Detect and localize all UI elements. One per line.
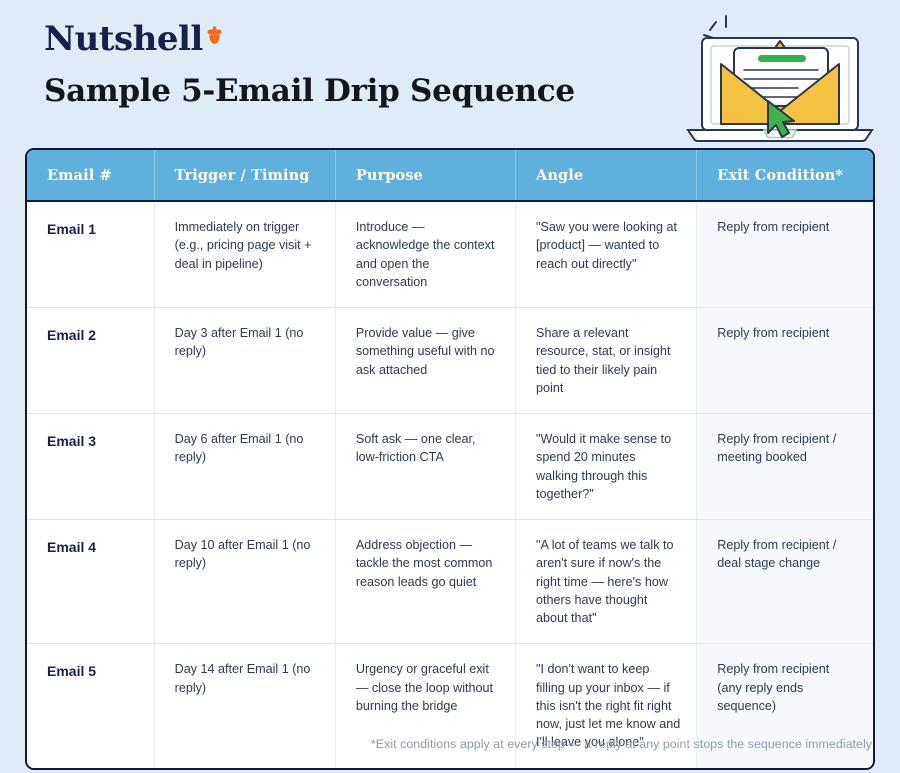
cell-trigger: Day 14 after Email 1 (no reply) <box>154 644 335 768</box>
acorn-icon <box>206 25 223 52</box>
cell-purpose: Soft ask — one clear, low-friction CTA <box>335 414 515 520</box>
table-row: Email 2 Day 3 after Email 1 (no reply) P… <box>27 308 873 414</box>
cell-purpose: Introduce — acknowledge the context and … <box>335 201 515 308</box>
column-header-exit: Exit Condition* <box>697 150 873 201</box>
cell-trigger: Immediately on trigger (e.g., pricing pa… <box>154 201 335 308</box>
sparkle-icon <box>704 16 726 38</box>
brand-logo: Nutshell <box>44 22 223 56</box>
brand-wordmark: Nutshell <box>44 22 203 56</box>
cell-exit: Reply from recipient / deal stage change <box>697 520 873 644</box>
footnote: *Exit conditions apply at every step — a… <box>371 737 872 751</box>
cell-email-id: Email 1 <box>27 201 154 308</box>
column-header-angle: Angle <box>516 150 697 201</box>
table-header-row: Email # Trigger / Timing Purpose Angle E… <box>27 150 873 201</box>
drip-sequence-table: Email # Trigger / Timing Purpose Angle E… <box>25 148 875 770</box>
cell-angle: "A lot of teams we talk to aren't sure i… <box>516 520 697 644</box>
cell-email-id: Email 3 <box>27 414 154 520</box>
cell-email-id: Email 5 <box>27 644 154 768</box>
column-header-purpose: Purpose <box>335 150 515 201</box>
cell-trigger: Day 3 after Email 1 (no reply) <box>154 308 335 414</box>
table-row: Email 3 Day 6 after Email 1 (no reply) S… <box>27 414 873 520</box>
cell-exit: Reply from recipient <box>697 201 873 308</box>
column-header-trigger: Trigger / Timing <box>154 150 335 201</box>
cell-angle: Share a relevant resource, stat, or insi… <box>516 308 697 414</box>
cell-angle: "Saw you were looking at [product] — wan… <box>516 201 697 308</box>
table-row: Email 1 Immediately on trigger (e.g., pr… <box>27 201 873 308</box>
page-header: Nutshell Sample 5-Email Drip Sequence <box>0 0 900 146</box>
page-title: Sample 5-Email Drip Sequence <box>44 74 575 108</box>
column-header-email: Email # <box>27 150 154 201</box>
cell-purpose: Provide value — give something useful wi… <box>335 308 515 414</box>
laptop-open-envelope-illustration <box>680 8 880 142</box>
cell-exit: Reply from recipient / meeting booked <box>697 414 873 520</box>
cell-purpose: Address objection — tackle the most comm… <box>335 520 515 644</box>
cell-email-id: Email 2 <box>27 308 154 414</box>
cell-exit: Reply from recipient <box>697 308 873 414</box>
cell-angle: "Would it make sense to spend 20 minutes… <box>516 414 697 520</box>
cell-trigger: Day 10 after Email 1 (no reply) <box>154 520 335 644</box>
cell-email-id: Email 4 <box>27 520 154 644</box>
table-row: Email 4 Day 10 after Email 1 (no reply) … <box>27 520 873 644</box>
cell-trigger: Day 6 after Email 1 (no reply) <box>154 414 335 520</box>
